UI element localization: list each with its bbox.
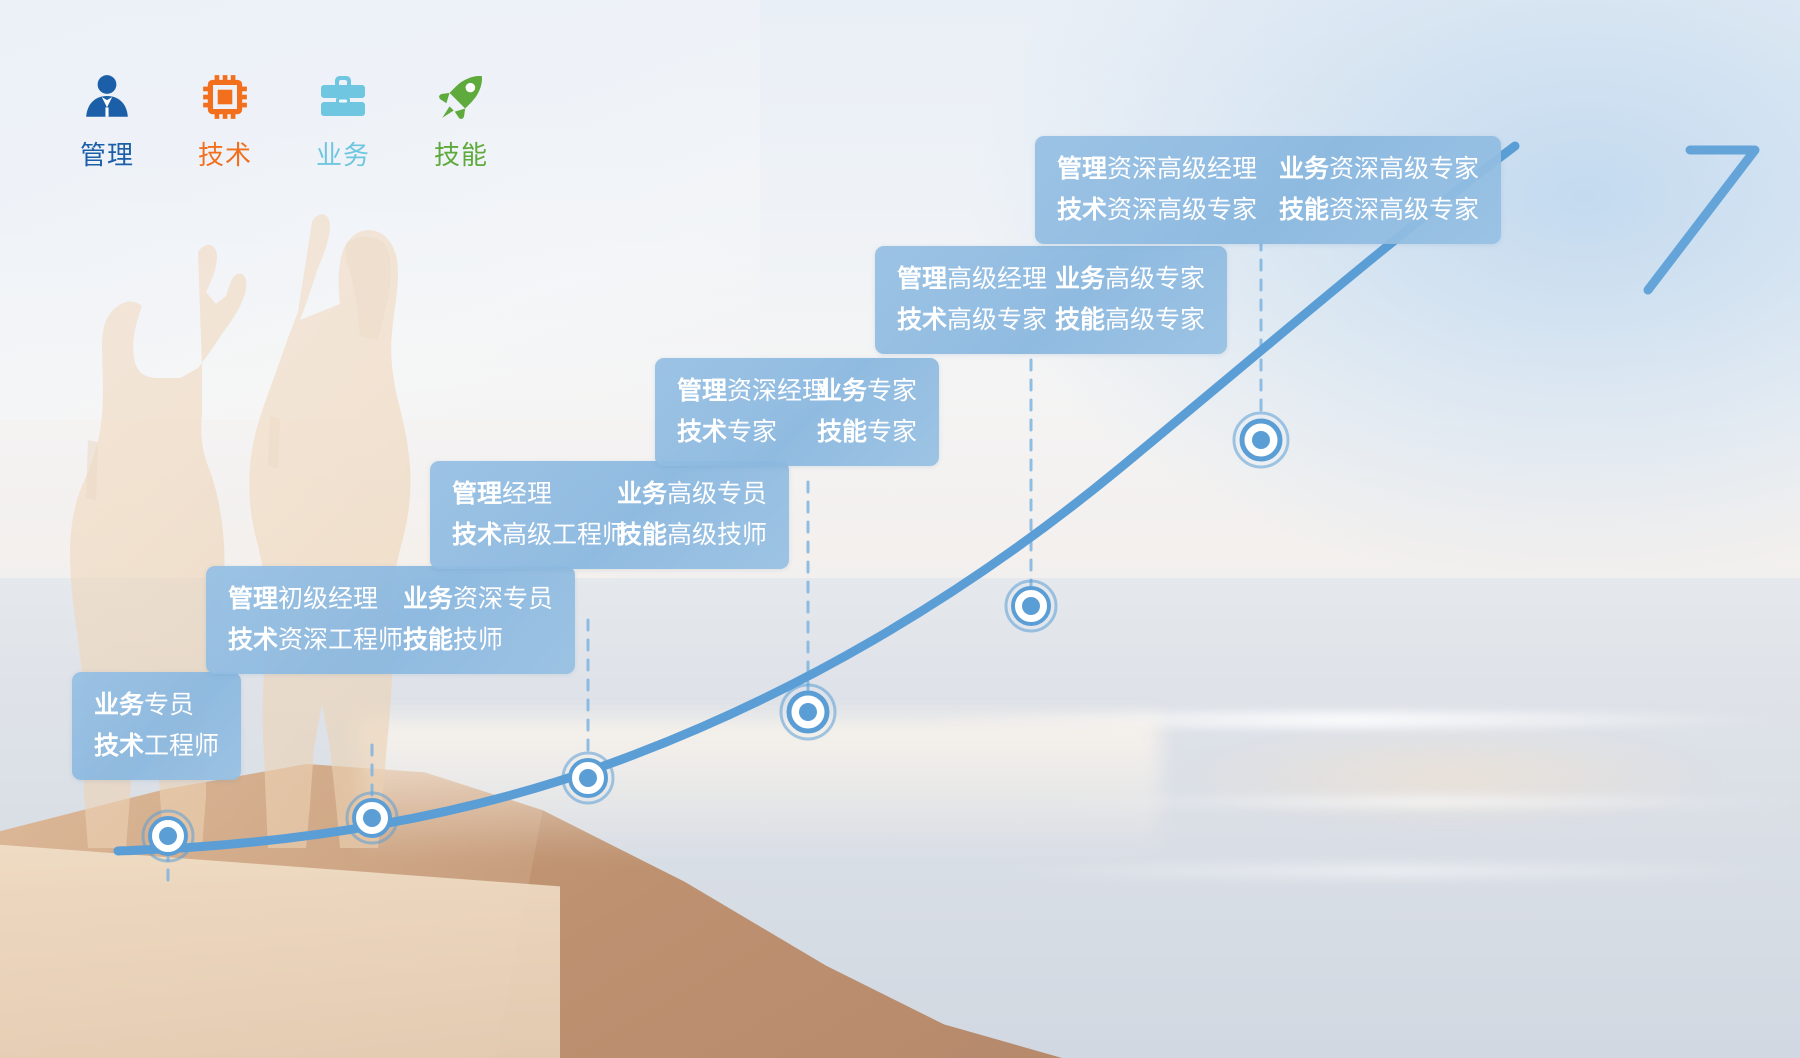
rank-label: 经理 — [502, 479, 552, 508]
category-label: 业务 — [817, 376, 867, 405]
water-streak — [980, 864, 1800, 878]
rank-label: 高级经理 — [947, 264, 1047, 293]
stage-box-6[interactable]: 管理资深高级经理 业务资深高级专家 技术资深高级专家 技能资深高级专家 — [1035, 136, 1501, 244]
stage-entry: 技能技师 — [403, 623, 503, 658]
rank-label: 专家 — [727, 417, 777, 446]
rocket-icon — [426, 68, 496, 126]
rank-label: 技师 — [453, 625, 503, 654]
stage-box-row: 管理资深经理 业务专家 — [677, 374, 917, 409]
briefcase-icon — [308, 68, 378, 126]
category-legend: 管理 — [72, 68, 496, 172]
category-label: 技术 — [228, 625, 278, 654]
rank-label: 高级专家 — [1105, 264, 1205, 293]
category-label: 业务 — [403, 584, 453, 613]
legend-item-skill[interactable]: 技能 — [426, 68, 496, 172]
rank-label: 高级专家 — [947, 305, 1047, 334]
rank-label: 资深高级专家 — [1329, 154, 1479, 183]
stage-entry: 业务资深专员 — [403, 582, 553, 617]
stage-box-row: 技术工程师 — [94, 729, 219, 764]
stage-box-row: 技术高级专家 技能高级专家 — [897, 303, 1205, 338]
stage-entry: 业务资深高级专家 — [1279, 152, 1479, 187]
category-label: 业务 — [1055, 264, 1105, 293]
category-label: 技能 — [817, 417, 867, 446]
rank-label: 初级经理 — [278, 584, 378, 613]
category-label: 技术 — [1057, 195, 1107, 224]
stage-entry: 业务高级专家 — [1055, 262, 1205, 297]
legend-label-business: 业务 — [308, 135, 378, 172]
stage-box-row: 管理经理 业务高级专员 — [452, 477, 767, 512]
rank-label: 资深专员 — [453, 584, 553, 613]
stage-box-row: 业务专员 — [94, 688, 219, 723]
stage-box-row: 管理高级经理 业务高级专家 — [897, 262, 1205, 297]
category-label: 技能 — [1279, 195, 1329, 224]
rank-label: 专员 — [144, 690, 194, 719]
stage-box-row: 管理资深高级经理 业务资深高级专家 — [1057, 152, 1479, 187]
rank-label: 资深高级专家 — [1107, 195, 1257, 224]
stage-entry: 技术资深高级专家 — [1057, 193, 1279, 228]
category-label: 业务 — [617, 479, 667, 508]
category-label: 技术 — [452, 520, 502, 549]
legend-label-technology: 技术 — [190, 135, 260, 172]
category-label: 技能 — [617, 520, 667, 549]
stage-entry: 业务高级专员 — [617, 477, 767, 512]
stage-entry: 技术专家 — [677, 415, 817, 450]
stage-box-row: 管理初级经理 业务资深专员 — [228, 582, 553, 617]
category-label: 管理 — [228, 584, 278, 613]
category-label: 技术 — [897, 305, 947, 334]
cpu-chip-icon — [190, 68, 260, 126]
water-streak — [1050, 796, 1800, 808]
stage-box-row: 技术高级工程师 技能高级技师 — [452, 518, 767, 553]
category-label: 技术 — [94, 731, 144, 760]
category-label: 管理 — [897, 264, 947, 293]
category-label: 业务 — [1279, 154, 1329, 183]
legend-item-business[interactable]: 业务 — [308, 68, 378, 172]
stage-entry: 技能资深高级专家 — [1279, 193, 1479, 228]
stage-entry: 技能专家 — [817, 415, 917, 450]
legend-label-skill: 技能 — [426, 135, 496, 172]
stage-box-row: 技术专家 技能专家 — [677, 415, 917, 450]
stage-entry: 业务专家 — [817, 374, 917, 409]
stage-entry: 技术高级专家 — [897, 303, 1055, 338]
infographic-canvas: 管理 — [0, 0, 1800, 1058]
rank-label: 专家 — [867, 417, 917, 446]
manager-person-icon — [72, 68, 142, 126]
category-label: 业务 — [94, 690, 144, 719]
stage-entry: 技能高级技师 — [617, 518, 767, 553]
stage-entry: 技术工程师 — [94, 729, 219, 764]
stage-box-5[interactable]: 管理高级经理 业务高级专家 技术高级专家 技能高级专家 — [875, 246, 1227, 354]
legend-label-management: 管理 — [72, 135, 142, 172]
stage-box-2[interactable]: 管理初级经理 业务资深专员 技术资深工程师 技能技师 — [206, 566, 575, 674]
shore-haze — [360, 718, 1160, 858]
category-label: 技能 — [403, 625, 453, 654]
rank-label: 高级专家 — [1105, 305, 1205, 334]
stage-entry: 技能高级专家 — [1055, 303, 1205, 338]
stage-box-3[interactable]: 管理经理 业务高级专员 技术高级工程师 技能高级技师 — [430, 461, 789, 569]
stage-entry: 管理资深高级经理 — [1057, 152, 1279, 187]
stage-entry: 业务专员 — [94, 688, 194, 723]
stage-entry: 技术资深工程师 — [228, 623, 403, 658]
stage-box-4[interactable]: 管理资深经理 业务专家 技术专家 技能专家 — [655, 358, 939, 466]
rank-label: 专家 — [867, 376, 917, 405]
stage-entry: 管理资深经理 — [677, 374, 817, 409]
rank-label: 高级工程师 — [502, 520, 627, 549]
category-label: 管理 — [452, 479, 502, 508]
stage-entry: 管理高级经理 — [897, 262, 1055, 297]
rank-label: 资深经理 — [727, 376, 827, 405]
stage-entry: 管理经理 — [452, 477, 617, 512]
stage-box-row: 技术资深高级专家 技能资深高级专家 — [1057, 193, 1479, 228]
category-label: 技能 — [1055, 305, 1105, 334]
legend-item-technology[interactable]: 技术 — [190, 68, 260, 172]
rank-label: 高级技师 — [667, 520, 767, 549]
category-label: 管理 — [1057, 154, 1107, 183]
category-label: 管理 — [677, 376, 727, 405]
stage-entry: 管理初级经理 — [228, 582, 403, 617]
rank-label: 资深工程师 — [278, 625, 403, 654]
stage-box-1[interactable]: 业务专员 技术工程师 — [72, 672, 241, 780]
rank-label: 高级专员 — [667, 479, 767, 508]
stage-entry: 技术高级工程师 — [452, 518, 617, 553]
category-label: 技术 — [677, 417, 727, 446]
legend-item-management[interactable]: 管理 — [72, 68, 142, 172]
rank-label: 工程师 — [144, 731, 219, 760]
rank-label: 资深高级专家 — [1329, 195, 1479, 224]
rank-label: 资深高级经理 — [1107, 154, 1257, 183]
stage-box-row: 技术资深工程师 技能技师 — [228, 623, 553, 658]
